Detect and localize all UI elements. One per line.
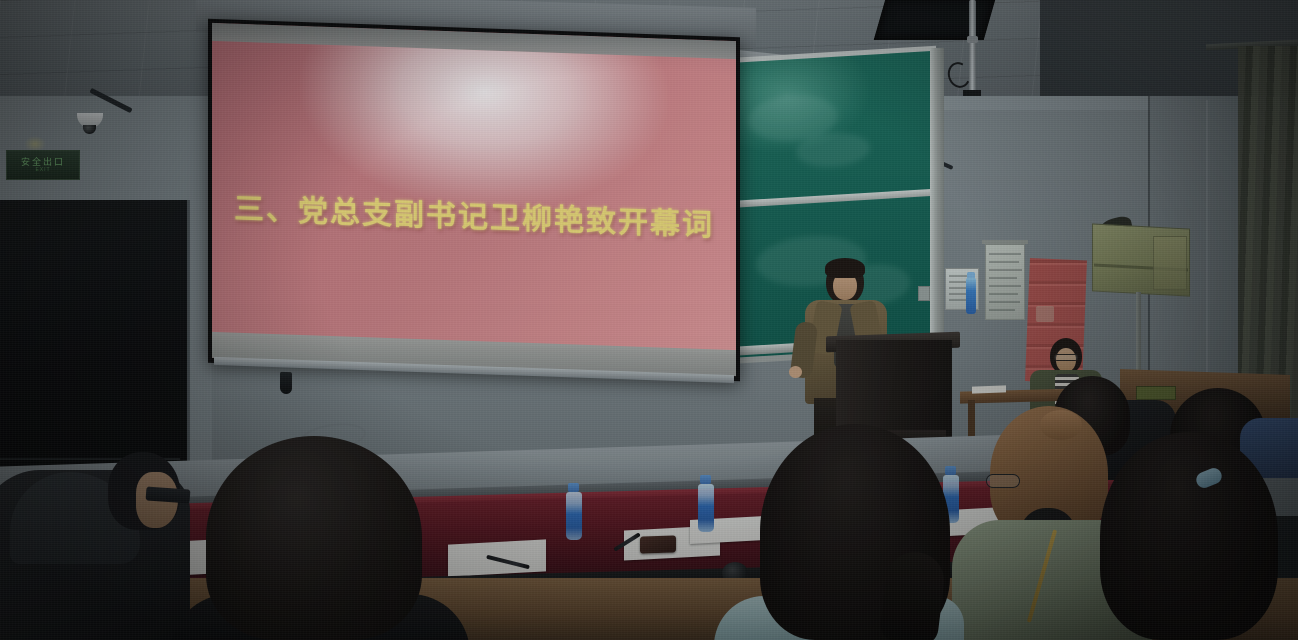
audience-glasses bbox=[146, 486, 191, 503]
chalkboard-divider bbox=[730, 189, 931, 208]
water-bottle[interactable] bbox=[566, 492, 582, 540]
audience-hair-bun bbox=[1040, 410, 1082, 440]
speaker-hair bbox=[825, 258, 865, 278]
projection-screen-frame: 三、党总支副书记卫柳艳致开幕词 bbox=[208, 19, 740, 382]
open-ceiling-tile bbox=[874, 0, 997, 40]
projector-mount-pole-icon bbox=[969, 0, 976, 98]
photo-scene: 安全出口 EXIT bbox=[0, 0, 1298, 640]
notice-line bbox=[989, 253, 1021, 255]
bottle-cap bbox=[945, 466, 956, 475]
audience-head bbox=[1100, 432, 1278, 640]
emergency-exit-sign: 安全出口 EXIT bbox=[6, 150, 80, 180]
notice-line bbox=[989, 301, 1020, 303]
bottle-cap bbox=[568, 483, 579, 492]
audience-head bbox=[206, 436, 422, 640]
screen-pull-handle[interactable] bbox=[280, 372, 292, 394]
exit-sign-label-en: EXIT bbox=[35, 167, 50, 174]
audience-glasses bbox=[986, 474, 1020, 488]
notice-line bbox=[989, 269, 1022, 271]
water-bottle[interactable] bbox=[698, 484, 714, 532]
dark-doorway bbox=[0, 200, 190, 500]
wall-mounted-bottle bbox=[966, 278, 976, 314]
wall-outlet[interactable] bbox=[918, 286, 930, 301]
back-desk-panel bbox=[1136, 386, 1176, 400]
notice-line bbox=[989, 261, 1019, 263]
speaker-hand bbox=[789, 366, 802, 378]
right-wall-panel bbox=[1153, 236, 1187, 290]
exit-sign-label-zh: 安全出口 bbox=[21, 157, 65, 167]
projector-pole-joint bbox=[967, 36, 978, 43]
seated-attendee-glasses bbox=[1054, 354, 1078, 361]
desk-paper bbox=[972, 385, 1006, 393]
notice-line bbox=[989, 285, 1021, 287]
wall-notice-board bbox=[985, 244, 1025, 320]
wall-hanging-pocket bbox=[1036, 306, 1054, 322]
slide-background: 三、党总支副书记卫柳艳致开幕词 bbox=[212, 41, 736, 354]
slide-title-text: 三、党总支副书记卫柳艳致开幕词 bbox=[212, 183, 736, 245]
chalkboard-side-post bbox=[930, 48, 944, 378]
notice-line bbox=[989, 309, 1015, 311]
notice-line bbox=[989, 293, 1018, 295]
projection-screen-surface: 三、党总支副书记卫柳艳致开幕词 bbox=[212, 23, 736, 376]
mobile-phone[interactable] bbox=[640, 535, 676, 553]
notice-line bbox=[989, 277, 1017, 279]
bottle-cap bbox=[700, 475, 711, 484]
